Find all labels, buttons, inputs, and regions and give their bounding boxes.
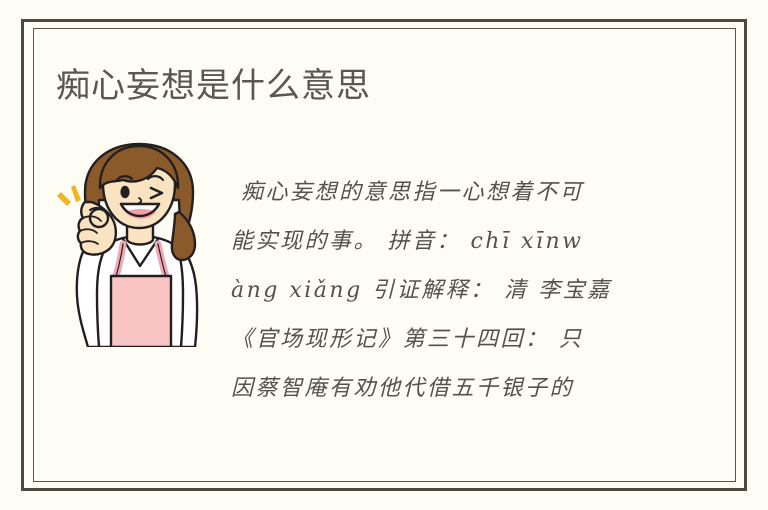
text-line: 《官场现形记》第三十四回： 只 (231, 315, 683, 364)
text-line: 因蔡智庵有劝他代借五千银子的 (231, 364, 683, 413)
text-line: àng xiǎng 引证解释： 清 李宝嘉 (231, 266, 683, 315)
illustration-winking-woman-ok-gesture (55, 140, 225, 347)
text-line: 痴心妄想的意思指一心想着不可 (231, 168, 683, 217)
text-line: 能实现的事。 拼音： chī xīnw (231, 217, 683, 266)
idiom-explanation-text: 痴心妄想的意思指一心想着不可 能实现的事。 拼音： chī xīnw àng x… (231, 168, 683, 413)
page-title: 痴心妄想是什么意思 (56, 63, 371, 109)
idiom-explanation-card: 痴心妄想是什么意思 (0, 0, 768, 510)
